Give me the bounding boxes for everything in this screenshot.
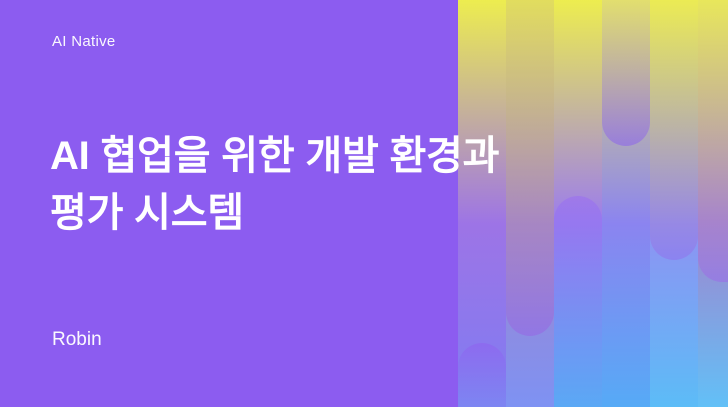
- slide-title-line-1: AI 협업을 위한 개발 환경과: [50, 128, 499, 185]
- gradient-bar-bar-col4-top: [602, 0, 650, 146]
- gradient-bar-bar-col5-mid: [650, 0, 698, 260]
- slide-title: AI 협업을 위한 개발 환경과 평가 시스템: [50, 128, 499, 242]
- gradient-bar-bar-col2-long: [506, 0, 554, 336]
- gradient-bar-bar-col3-bottom: [554, 196, 602, 407]
- gradient-bar-bar-col6-right: [698, 0, 728, 282]
- gradient-bar-bar-col1-bottom: [458, 343, 506, 407]
- slide-title-line-2: 평가 시스템: [50, 185, 499, 242]
- presentation-title-slide: AI Native AI 협업을 위한 개발 환경과 평가 시스템 Robin: [0, 0, 728, 407]
- presenter-name: Robin: [52, 329, 102, 351]
- eyebrow-label: AI Native: [52, 33, 116, 50]
